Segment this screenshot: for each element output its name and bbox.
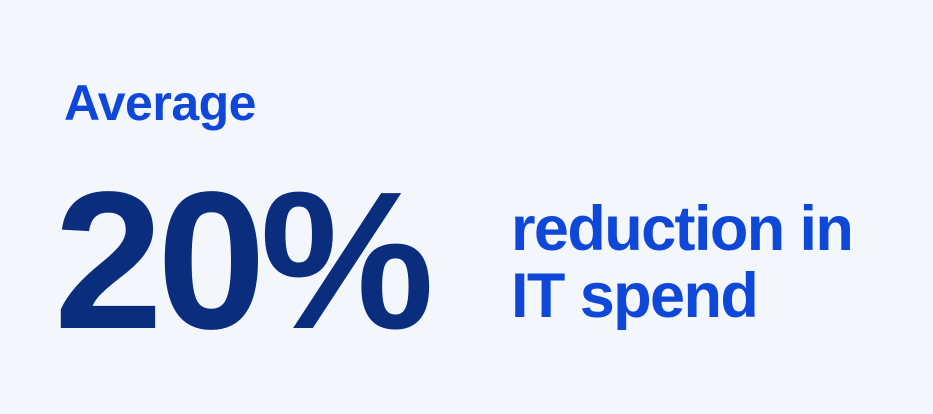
- stat-callout-card: Average 20% reduction in IT spend: [0, 0, 933, 414]
- stat-value: 20%: [54, 163, 428, 359]
- stat-figure-row: 20% reduction in IT spend: [0, 0, 933, 414]
- stat-descriptor-line-1: reduction in: [511, 196, 911, 263]
- stat-descriptor: reduction in IT spend: [511, 196, 911, 330]
- stat-descriptor-line-2: IT spend: [511, 263, 911, 330]
